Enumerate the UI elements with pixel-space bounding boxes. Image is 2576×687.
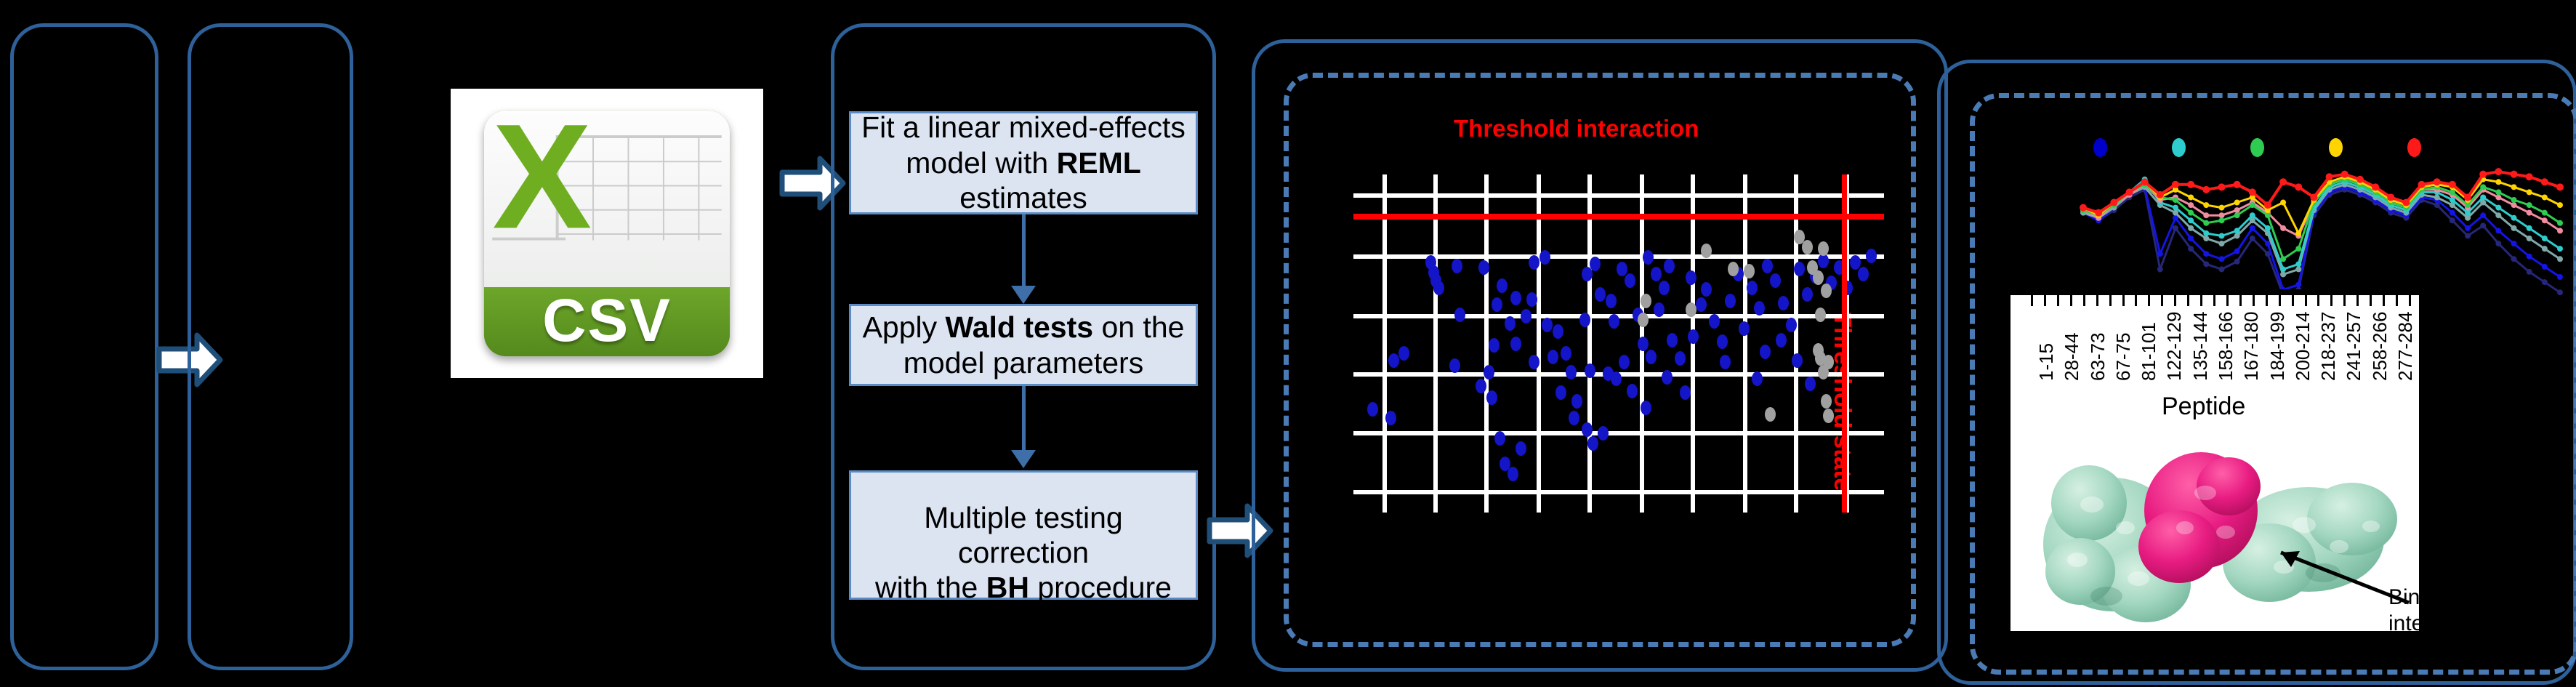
- peptide-marker: [2188, 202, 2194, 208]
- scatter-point: [1728, 262, 1739, 276]
- peptide-marker: [2249, 188, 2256, 196]
- peptide-marker: [2387, 193, 2394, 201]
- scatter-point: [1641, 401, 1651, 415]
- peptide-marker: [2480, 212, 2486, 218]
- scatter-point: [1858, 267, 1869, 281]
- peptide-marker: [2464, 193, 2471, 201]
- scatter-point: [1555, 385, 1566, 400]
- step-box-wald-text: Apply Wald tests on the model parameters: [858, 310, 1188, 380]
- peptide-tick-label: 63-73: [2087, 333, 2109, 382]
- scatter-point: [1688, 329, 1699, 344]
- step-bh-text-after: procedure: [1029, 571, 1172, 604]
- scatter-point: [1553, 324, 1563, 339]
- peptide-marker: [2511, 225, 2517, 231]
- scatter-point: [1815, 308, 1826, 322]
- scatter-point: [1794, 262, 1805, 276]
- peptide-marker: [2218, 256, 2224, 262]
- peptide-marker: [2295, 230, 2301, 236]
- peptide-tick-label: 67-75: [2112, 333, 2135, 382]
- scatter-point: [1367, 402, 1378, 417]
- peptide-marker: [2141, 178, 2149, 185]
- peptide-marker: [2295, 282, 2301, 288]
- peptide-marker: [2250, 212, 2255, 218]
- peptide-marker: [2218, 205, 2224, 211]
- peptide-marker: [2511, 184, 2517, 190]
- peptide-marker: [2218, 183, 2225, 190]
- peptide-marker: [2234, 249, 2240, 254]
- peptide-marker: [2450, 189, 2455, 195]
- peptide-marker: [2465, 215, 2471, 221]
- scatter-point: [1760, 345, 1771, 359]
- step-box-reml-text: Fit a linear mixed-effects model with RE…: [858, 110, 1188, 215]
- scatter-point: [1582, 267, 1593, 281]
- csv-label-band: CSV: [484, 287, 730, 356]
- peptide-marker: [2341, 171, 2348, 178]
- peptide-marker: [2203, 220, 2209, 226]
- peptide-marker: [2480, 194, 2486, 200]
- scatter-point: [1662, 370, 1673, 385]
- legend-dot-red: [2407, 138, 2421, 157]
- threshold-state-line: [1842, 174, 1847, 513]
- scatter-point: [1643, 250, 1654, 265]
- scatter-point: [1595, 287, 1606, 302]
- peptide-marker: [2234, 228, 2240, 233]
- threshold-interaction-line: [1353, 214, 1884, 220]
- peptide-marker: [2542, 246, 2548, 252]
- peptide-marker: [2203, 261, 2209, 267]
- peptide-marker: [2310, 193, 2317, 201]
- peptide-marker: [2557, 202, 2563, 208]
- peptide-marker: [2203, 212, 2209, 218]
- peptide-tick-label: 241-257: [2343, 312, 2365, 381]
- scatter-point: [1664, 259, 1675, 273]
- results-white-card: 1-1528-4463-7367-7581-101122-129135-1441…: [2011, 289, 2419, 631]
- scatter-point: [1770, 273, 1781, 288]
- peptide-tick-label: 28-44: [2061, 333, 2083, 382]
- peptide-marker: [2372, 183, 2379, 190]
- scatter-point: [1489, 338, 1500, 353]
- scatter-point: [1606, 294, 1617, 308]
- legend-dot-yellow: [2329, 138, 2343, 157]
- scatter-point: [1823, 409, 1834, 423]
- peptide-marker: [2279, 178, 2287, 185]
- scatter-point: [1762, 259, 1773, 273]
- peptide-marker: [2556, 183, 2564, 190]
- scatter-point: [1821, 284, 1832, 298]
- scatter-point: [1388, 353, 1399, 368]
- scatter-point: [1739, 321, 1750, 336]
- scatter-point: [1778, 296, 1789, 310]
- peptide-marker: [2080, 204, 2087, 212]
- csv-panel: [188, 23, 353, 670]
- peptide-tick-label: 167-180: [2240, 312, 2263, 381]
- peptide-marker: [2203, 236, 2209, 241]
- scatter-point: [1786, 318, 1797, 332]
- scatter-point: [1701, 244, 1712, 258]
- scatter-point: [1850, 255, 1861, 270]
- scatter-point: [1539, 250, 1550, 265]
- scatter-point: [1659, 281, 1670, 295]
- scatter-point: [1526, 292, 1537, 307]
- scatter-point: [1651, 267, 1662, 281]
- scatter-point: [1385, 411, 1396, 425]
- peptide-marker: [2295, 183, 2302, 190]
- scatter-plot[interactable]: Threshold interaction Threshold state: [1353, 174, 1884, 513]
- scatter-point: [1752, 371, 1763, 386]
- peptide-marker: [2234, 200, 2240, 206]
- peptide-marker: [2434, 178, 2441, 185]
- peptide-marker: [2234, 207, 2240, 213]
- scatter-point: [1709, 314, 1720, 329]
- peptide-marker: [2265, 225, 2271, 231]
- scatter-point: [1508, 467, 1518, 481]
- binding-interface-label: Binding interface: [2388, 584, 2419, 631]
- binding-interface-line1: Binding: [2388, 584, 2419, 611]
- scatter-point: [1510, 337, 1521, 351]
- step-reml-bold: REML: [1057, 146, 1141, 180]
- connector-line-1: [1022, 214, 1026, 286]
- scatter-point: [1641, 294, 1651, 308]
- step-wald-bold: Wald tests: [946, 310, 1094, 344]
- peptide-y-axis-fragment: 0.0: [2013, 289, 2048, 296]
- peptide-marker: [2542, 236, 2548, 241]
- scatter-point: [1646, 350, 1657, 364]
- spreadsheet-body: X: [484, 111, 730, 287]
- peptide-marker: [2557, 256, 2563, 262]
- scatter-point: [1494, 431, 1505, 446]
- peptide-marker: [2203, 202, 2209, 208]
- peptide-marker: [2218, 233, 2224, 238]
- scatter-point: [1818, 241, 1829, 256]
- peptide-marker: [2557, 246, 2563, 252]
- scatter-point: [1566, 365, 1577, 379]
- peptide-marker: [2527, 202, 2532, 208]
- peptide-tick-label: 218-237: [2317, 312, 2340, 381]
- peptide-marker: [2095, 209, 2102, 217]
- scatter-point: [1478, 260, 1489, 275]
- scatter-point: [1818, 365, 1829, 379]
- scatter-point: [1792, 353, 1803, 368]
- protein-surface-structure: [2011, 417, 2419, 631]
- peptide-marker: [2203, 251, 2209, 257]
- scatter-point: [1805, 377, 1816, 391]
- scatter-point: [1476, 379, 1486, 393]
- scatter-data-points: [1353, 174, 1884, 513]
- scatter-point: [1754, 301, 1765, 316]
- peptide-marker: [2526, 173, 2533, 180]
- peptide-tick-label: 81-101: [2138, 322, 2160, 381]
- peptide-marker: [2542, 264, 2548, 270]
- peptide-marker: [2356, 176, 2364, 183]
- scatter-point: [1492, 297, 1502, 312]
- peptide-marker: [2218, 217, 2224, 223]
- csv-file-icon: X CSV: [484, 111, 730, 356]
- scatter-point: [1765, 407, 1776, 422]
- peptide-marker: [2234, 233, 2240, 238]
- scatter-point: [1585, 363, 1595, 378]
- peptide-marker: [2218, 266, 2224, 272]
- scatter-point: [1686, 302, 1696, 317]
- peptide-marker: [2264, 201, 2271, 209]
- scatter-point: [1529, 355, 1539, 369]
- step-box-bh[interactable]: Multiple testing correction with the BH …: [849, 470, 1198, 600]
- peptide-marker: [2527, 210, 2532, 216]
- peptide-marker: [2465, 202, 2471, 208]
- scatter-point: [1802, 287, 1813, 302]
- scatter-point: [1821, 394, 1832, 409]
- scatter-point: [1582, 422, 1593, 437]
- peptide-marker: [2465, 233, 2471, 238]
- scatter-point: [1717, 334, 1728, 349]
- peptide-tick-label: 258-266: [2369, 312, 2391, 381]
- peptide-marker: [2295, 266, 2301, 272]
- peptide-marker: [2495, 179, 2501, 185]
- peptide-marker: [2557, 220, 2563, 226]
- excel-x-glyph: X: [492, 113, 578, 241]
- scatter-point: [1609, 314, 1619, 329]
- scatter-point: [1484, 365, 1494, 379]
- scatter-point: [1529, 255, 1539, 270]
- step-box-wald[interactable]: Apply Wald tests on the model parameters: [849, 304, 1198, 386]
- peptide-marker: [2188, 194, 2194, 200]
- peptide-marker: [2479, 171, 2487, 178]
- scatter-point: [1667, 333, 1678, 347]
- peptide-marker: [2280, 256, 2286, 262]
- peptide-marker: [2280, 225, 2286, 231]
- step-box-bh-text: Multiple testing correction with the BH …: [858, 465, 1188, 606]
- scatter-point: [1433, 281, 1444, 295]
- peptide-marker: [2218, 241, 2224, 246]
- scatter-point: [1579, 313, 1590, 327]
- legend-dot-blue: [2093, 138, 2107, 157]
- input-panel: [10, 23, 158, 670]
- scatter-point: [1720, 355, 1731, 369]
- scatter-point: [1521, 309, 1531, 324]
- scatter-point: [1505, 316, 1516, 331]
- peptide-marker: [2495, 241, 2501, 246]
- scatter-point: [1813, 270, 1824, 285]
- peptide-marker: [2465, 210, 2471, 216]
- scatter-point: [1587, 436, 1598, 451]
- peptide-marker: [2511, 241, 2517, 246]
- peptide-marker: [2527, 225, 2532, 231]
- scatter-point: [1510, 291, 1521, 305]
- scatter-point: [1611, 371, 1622, 386]
- peptide-marker: [2495, 212, 2501, 218]
- scatter-point: [1802, 240, 1813, 254]
- scatter-point: [1516, 441, 1526, 456]
- peptide-marker: [2187, 181, 2194, 188]
- peptide-tick-label: 158-166: [2215, 312, 2237, 381]
- scatter-point: [1638, 313, 1649, 327]
- peptide-tick-label: 184-199: [2266, 312, 2289, 381]
- peptide-marker: [2202, 186, 2210, 193]
- peptide-marker: [2450, 217, 2455, 223]
- peptide-marker: [2125, 188, 2133, 196]
- peptide-marker: [2250, 202, 2255, 208]
- peptide-line-t-navy: [2083, 190, 2560, 295]
- peptide-marker: [2480, 222, 2486, 228]
- scatter-point: [1617, 262, 1627, 276]
- peptide-marker: [2326, 173, 2333, 180]
- scatter-point: [1696, 297, 1707, 312]
- peptide-tick-label: 277-284: [2394, 312, 2417, 381]
- peptide-marker: [2295, 261, 2301, 267]
- peptide-marker: [2188, 236, 2194, 241]
- peptide-marker: [2280, 200, 2286, 206]
- peptide-marker: [2188, 210, 2194, 216]
- peptide-marker: [2542, 279, 2548, 285]
- peptide-marker: [2527, 269, 2532, 275]
- peptide-tick-label: 1-15: [2035, 343, 2058, 381]
- peptide-marker: [2527, 236, 2532, 241]
- csv-file-card[interactable]: X CSV: [451, 89, 763, 378]
- peptide-marker: [2450, 197, 2455, 203]
- scatter-point: [1571, 394, 1582, 409]
- peptide-marker: [2234, 212, 2240, 218]
- scatter-point: [1675, 351, 1686, 366]
- scatter-point: [1776, 333, 1787, 347]
- peptide-marker: [2203, 230, 2209, 236]
- scatter-point: [1497, 278, 1508, 293]
- scatter-point: [1542, 318, 1553, 332]
- peptide-marker: [2250, 225, 2255, 231]
- scatter-point: [1619, 355, 1630, 369]
- scatter-point: [1454, 308, 1465, 322]
- scatter-point: [1625, 273, 1635, 288]
- peptide-marker: [2218, 212, 2224, 218]
- scatter-point: [1701, 282, 1712, 297]
- peptide-marker: [2557, 228, 2563, 233]
- peptide-chart-legend: [2093, 138, 2500, 160]
- scatter-point: [1547, 350, 1558, 364]
- csv-label: CSV: [542, 287, 672, 356]
- peptide-marker: [2402, 199, 2410, 206]
- scatter-point: [1598, 426, 1609, 441]
- peptide-marker: [2542, 217, 2548, 223]
- scatter-point: [1449, 358, 1460, 373]
- scatter-point: [1725, 294, 1736, 308]
- peptide-marker: [2542, 194, 2548, 200]
- peptide-marker: [2527, 254, 2532, 260]
- step-wald-text-before: Apply: [863, 310, 946, 344]
- connector-arrowhead-1: [1011, 286, 1036, 304]
- peptide-marker: [2234, 181, 2241, 188]
- peptide-marker: [2418, 181, 2426, 188]
- scatter-point: [1654, 302, 1665, 317]
- peptide-axis-tick-labels: 1-1528-4463-7367-7581-101122-129135-1441…: [2011, 289, 2419, 384]
- peptide-marker: [2110, 199, 2117, 206]
- peptide-marker: [2527, 189, 2532, 195]
- peptide-marker: [2173, 197, 2178, 203]
- peptide-marker: [2542, 210, 2548, 216]
- peptide-marker: [2449, 181, 2456, 188]
- scatter-point: [1686, 270, 1696, 285]
- peptide-marker: [2234, 259, 2240, 265]
- peptide-marker: [2495, 205, 2501, 211]
- peptide-marker: [2157, 191, 2164, 198]
- step-bh-bold: BH: [986, 571, 1029, 604]
- peptide-marker: [2188, 225, 2194, 231]
- scatter-point: [1680, 385, 1691, 400]
- peptide-tick-label: 200-214: [2292, 312, 2314, 381]
- peptide-marker: [2495, 189, 2501, 195]
- peptide-marker: [2495, 194, 2501, 200]
- threshold-interaction-label: Threshold interaction: [1454, 115, 1699, 142]
- peptide-marker: [2557, 274, 2563, 280]
- legend-dot-cyan: [2172, 138, 2186, 157]
- peptide-tick-label: 135-144: [2189, 312, 2212, 381]
- peptide-marker: [2511, 202, 2517, 208]
- peptide-marker: [2511, 256, 2517, 262]
- legend-dot-green: [2250, 138, 2264, 157]
- scatter-point: [1744, 264, 1755, 278]
- peptide-marker: [2511, 215, 2517, 221]
- step-box-reml[interactable]: Fit a linear mixed-effects model with RE…: [849, 111, 1198, 214]
- scatter-point: [1747, 281, 1758, 295]
- scatter-point: [1627, 384, 1638, 398]
- peptide-marker: [2188, 217, 2194, 223]
- scatter-point: [1452, 259, 1462, 273]
- peptide-marker: [2173, 205, 2178, 211]
- peptide-marker: [2434, 194, 2440, 200]
- scatter-point: [1398, 346, 1409, 361]
- peptide-marker: [2280, 271, 2286, 277]
- peptide-marker: [2495, 228, 2501, 233]
- peptide-marker: [2511, 197, 2517, 203]
- step-reml-text-after: estimates: [959, 181, 1087, 214]
- peptide-marker: [2541, 178, 2548, 185]
- peptide-marker: [2157, 266, 2163, 272]
- scatter-point: [1561, 346, 1571, 361]
- peptide-marker: [2157, 251, 2163, 257]
- peptide-marker: [2188, 246, 2194, 252]
- scatter-point: [1569, 411, 1579, 425]
- peptide-marker: [2511, 171, 2518, 178]
- scatter-point: [1638, 337, 1649, 351]
- peptide-tick-label: 122-129: [2163, 312, 2186, 381]
- peptide-marker: [2465, 225, 2471, 231]
- peptide-marker: [2265, 212, 2271, 218]
- scatter-point: [1866, 249, 1877, 263]
- peptide-marker: [2557, 289, 2563, 295]
- peptide-marker: [2173, 225, 2178, 231]
- connector-line-2: [1022, 386, 1026, 450]
- binding-interface-line2: interface: [2388, 611, 2419, 631]
- peptide-marker: [2172, 181, 2179, 188]
- peptide-marker: [2295, 246, 2301, 252]
- peptide-marker: [2495, 168, 2502, 175]
- peptide-marker: [2450, 210, 2455, 216]
- peptide-marker: [2250, 236, 2255, 241]
- peptide-marker: [2480, 184, 2486, 190]
- peptide-marker: [2280, 266, 2286, 272]
- scatter-point: [1486, 390, 1497, 405]
